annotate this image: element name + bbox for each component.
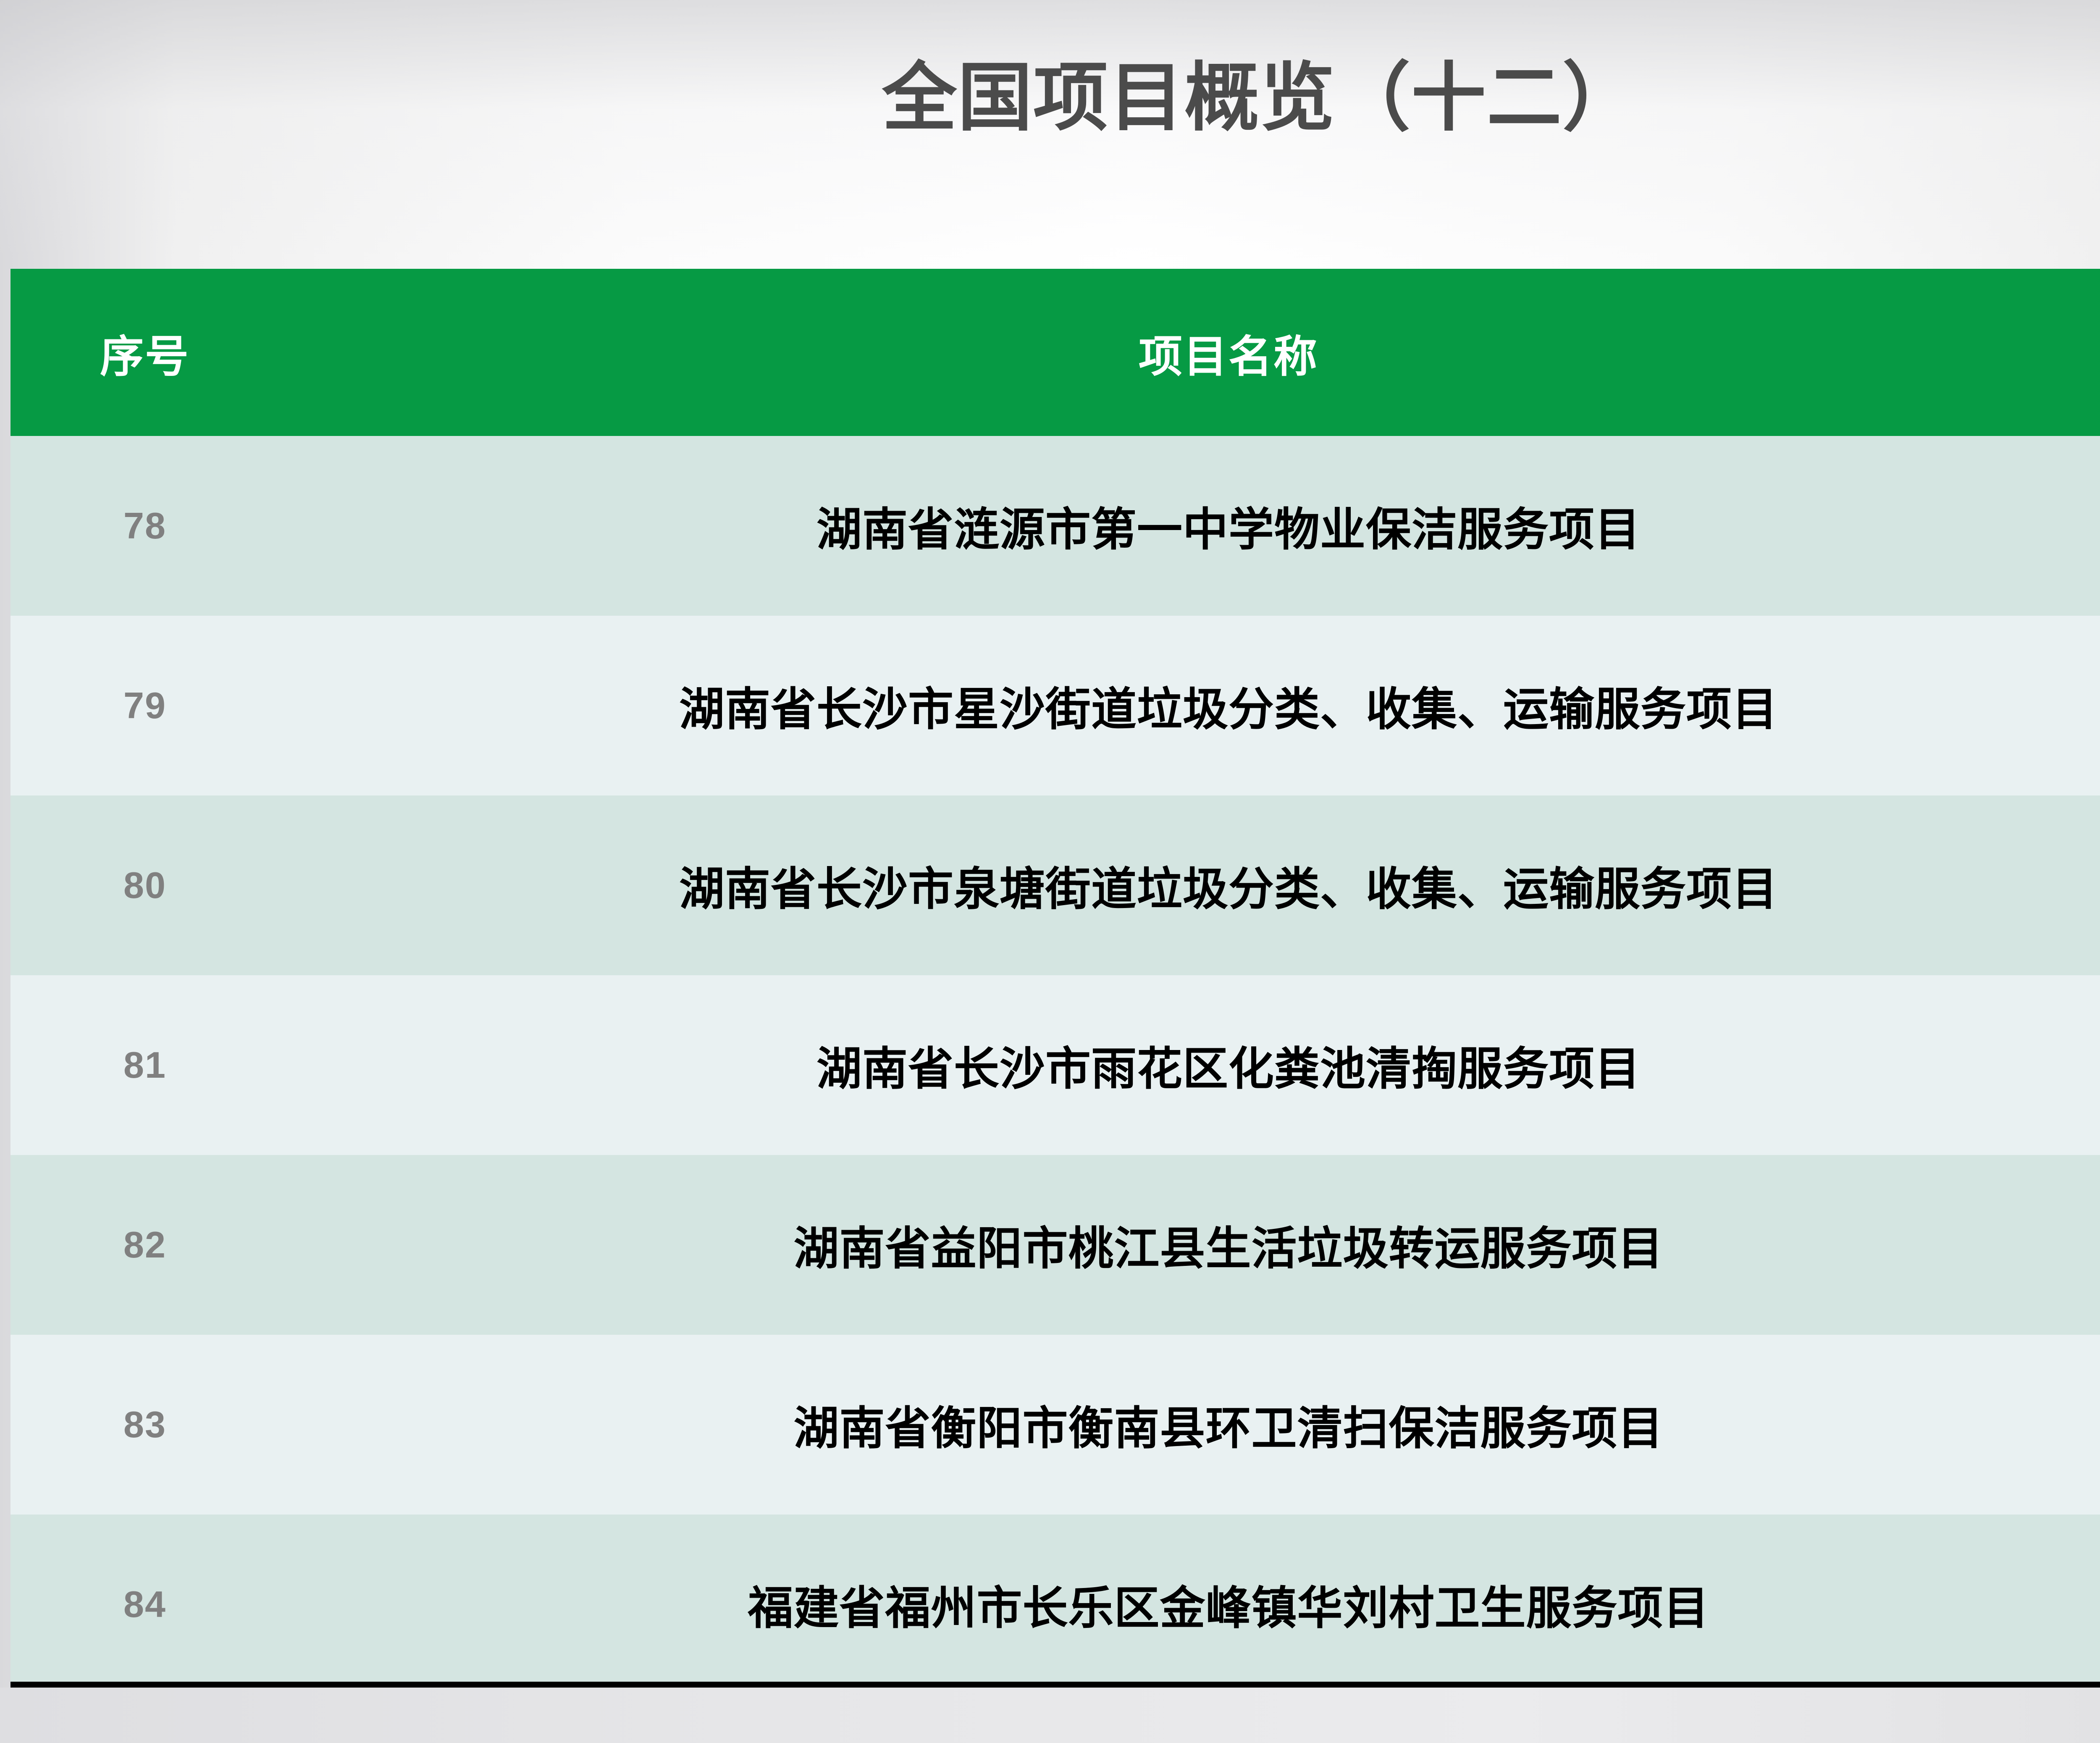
row-index-cell: 81 [10, 1044, 279, 1087]
row-name-cell: 湖南省长沙市星沙街道垃圾分类、收集、运输服务项目 [279, 673, 2100, 738]
row-name-cell: 福建省福州市长乐区金峰镇华刘村卫生服务项目 [279, 1572, 2100, 1637]
row-name-value: 湖南省长沙市雨花区化粪池清掏服务项目 [816, 1043, 1641, 1094]
row-name-cell: 湖南省涟源市第一中学物业保洁服务项目 [279, 493, 2100, 559]
row-index-cell: 82 [10, 1223, 279, 1266]
row-index-cell: 84 [10, 1583, 279, 1626]
header-label-index: 序号 [100, 333, 190, 381]
table-header-row: 序号 项目名称 合同金额 [10, 269, 2100, 436]
row-name-value: 湖南省益阳市桃江县生活垃圾转运服务项目 [793, 1223, 1663, 1274]
row-name-cell: 湖南省衡阳市衡南县环卫清扫保洁服务项目 [279, 1392, 2100, 1457]
row-index-value: 83 [123, 1404, 166, 1445]
slide-bottom-band [0, 1688, 2100, 1743]
row-name-value: 湖南省长沙市泉塘街道垃圾分类、收集、运输服务项目 [679, 864, 1778, 914]
page-title: 全国项目概览（十二） [882, 59, 1638, 137]
table-row[interactable]: 80 湖南省长沙市泉塘街道垃圾分类、收集、运输服务项目 380万 [10, 795, 2100, 975]
row-name-value: 湖南省长沙市星沙街道垃圾分类、收集、运输服务项目 [679, 684, 1778, 735]
row-index-value: 84 [123, 1583, 166, 1625]
table-row[interactable]: 84 福建省福州市长乐区金峰镇华刘村卫生服务项目 100万 [10, 1515, 2100, 1694]
table-row[interactable]: 82 湖南省益阳市桃江县生活垃圾转运服务项目 600万 [10, 1155, 2100, 1335]
row-index-value: 82 [123, 1224, 166, 1265]
table-row[interactable]: 81 湖南省长沙市雨花区化粪池清掏服务项目 390万 [10, 975, 2100, 1155]
row-index-value: 79 [123, 685, 166, 726]
row-name-cell: 湖南省长沙市泉塘街道垃圾分类、收集、运输服务项目 [279, 853, 2100, 918]
row-name-cell: 湖南省长沙市雨花区化粪池清掏服务项目 [279, 1032, 2100, 1098]
row-name-value: 湖南省涟源市第一中学物业保洁服务项目 [816, 504, 1641, 555]
table-row[interactable]: 79 湖南省长沙市星沙街道垃圾分类、收集、运输服务项目 810万 [10, 616, 2100, 795]
projects-table: 序号 项目名称 合同金额 78 湖南省涟源市第一中学物业保洁服务项目 257万 … [10, 269, 2100, 1694]
row-name-cell: 湖南省益阳市桃江县生活垃圾转运服务项目 [279, 1212, 2100, 1278]
row-index-cell: 78 [10, 504, 279, 547]
table-row[interactable]: 83 湖南省衡阳市衡南县环卫清扫保洁服务项目 682万 [10, 1335, 2100, 1515]
row-index-value: 81 [123, 1044, 166, 1086]
row-index-cell: 79 [10, 684, 279, 727]
header-cell-name: 项目名称 [279, 321, 2100, 384]
table-row[interactable]: 78 湖南省涟源市第一中学物业保洁服务项目 257万 [10, 436, 2100, 616]
row-index-cell: 80 [10, 864, 279, 907]
header-cell-index: 序号 [10, 321, 279, 384]
header-label-name: 项目名称 [1139, 333, 1318, 381]
row-name-value: 福建省福州市长乐区金峰镇华刘村卫生服务项目 [748, 1583, 1709, 1633]
row-index-value: 78 [123, 505, 166, 546]
page-title-wrap: 全国项目概览（十二） [0, 59, 2100, 137]
row-index-value: 80 [123, 864, 166, 906]
slide-canvas: 全国项目概览（十二） 序号 项目名称 合同金额 78 湖南省涟源市第一中学物业保… [0, 0, 2100, 1743]
row-index-cell: 83 [10, 1403, 279, 1446]
row-name-value: 湖南省衡阳市衡南县环卫清扫保洁服务项目 [793, 1403, 1663, 1454]
